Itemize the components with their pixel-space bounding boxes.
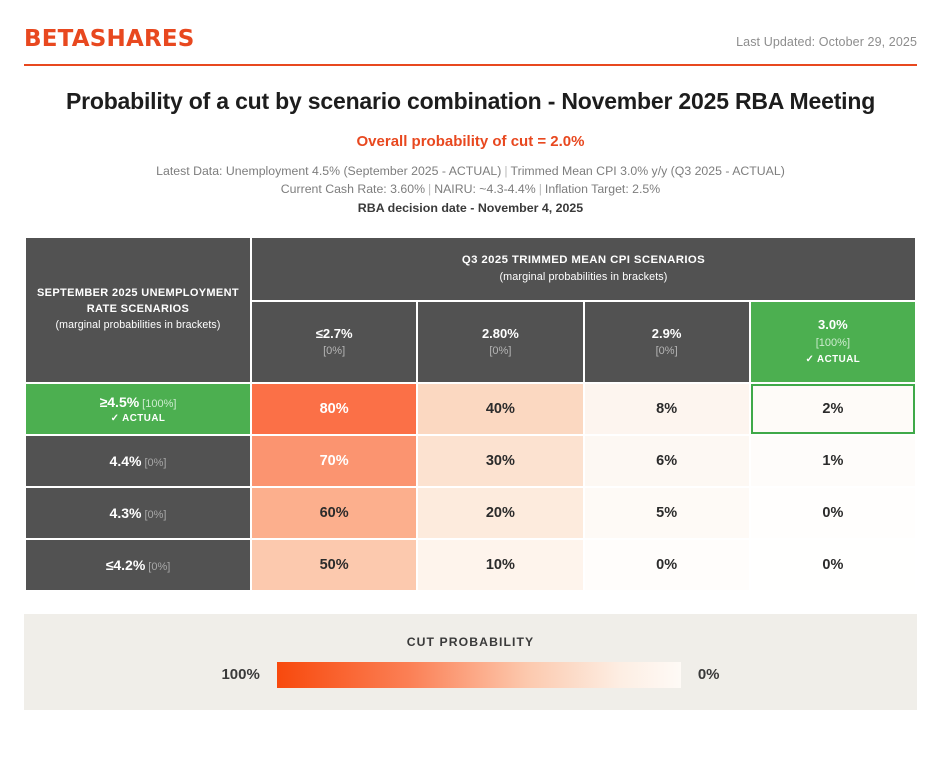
meta-inflation-target: Inflation Target: 2.5% [545, 182, 660, 196]
actual-badge: ✓ ACTUAL [751, 353, 915, 368]
cpi-column-header-2[interactable]: 2.80%[0%] [418, 302, 582, 382]
cpi-column-label: ≤2.7% [316, 326, 353, 341]
betashares-logo: BETASHARES [24, 26, 195, 52]
meta-separator: | [536, 182, 545, 196]
unemployment-row-label: ≥4.5% [100, 394, 140, 410]
unemployment-row-header-4[interactable]: ≤4.2%[0%] [26, 540, 250, 590]
probability-cell-r2-c2[interactable]: 30% [418, 436, 582, 486]
matrix-group-header-row: SEPTEMBER 2025 UNEMPLOYMENT RATE SCENARI… [26, 238, 915, 300]
unemployment-row-marginal: [0%] [144, 457, 166, 469]
cpi-column-label: 3.0% [818, 317, 848, 332]
probability-cell-r2-c4[interactable]: 1% [751, 436, 915, 486]
unemployment-row-header-1[interactable]: ≥4.5%[100%]✓ ACTUAL [26, 384, 250, 434]
overall-probability-label: Overall probability of cut = 2.0% [24, 133, 917, 150]
probability-cell-r3-c4[interactable]: 0% [751, 488, 915, 538]
probability-cell-r4-c3[interactable]: 0% [585, 540, 749, 590]
unemployment-row-label: 4.4% [110, 453, 142, 469]
corner-header-main: SEPTEMBER 2025 UNEMPLOYMENT RATE SCENARI… [26, 286, 250, 318]
color-legend: CUT PROBABILITY 100% 0% [24, 614, 917, 710]
cpi-column-header-1[interactable]: ≤2.7%[0%] [252, 302, 416, 382]
report-page: BETASHARES Last Updated: October 29, 202… [0, 0, 941, 767]
page-header: BETASHARES Last Updated: October 29, 202… [24, 0, 917, 64]
legend-gradient-bar [277, 662, 681, 688]
page-title: Probability of a cut by scenario combina… [24, 88, 917, 115]
meta-info: Latest Data: Unemployment 4.5% (Septembe… [24, 163, 917, 218]
corner-header-cell: SEPTEMBER 2025 UNEMPLOYMENT RATE SCENARI… [26, 238, 250, 382]
last-updated-label: Last Updated: October 29, 2025 [736, 35, 917, 49]
unemployment-row-marginal: [0%] [144, 509, 166, 521]
probability-cell-r1-c1[interactable]: 80% [252, 384, 416, 434]
legend-scale: 100% 0% [24, 662, 917, 688]
unemployment-row-label: ≤4.2% [106, 557, 146, 573]
unemployment-row-header-2[interactable]: 4.4%[0%] [26, 436, 250, 486]
probability-cell-r3-c1[interactable]: 60% [252, 488, 416, 538]
corner-header-sub: (marginal probabilities in brackets) [26, 318, 250, 333]
cpi-column-label: 2.80% [482, 326, 519, 341]
probability-cell-r1-c2[interactable]: 40% [418, 384, 582, 434]
probability-cell-r1-c3[interactable]: 8% [585, 384, 749, 434]
header-divider [24, 64, 917, 66]
unemployment-row-marginal: [0%] [148, 561, 170, 573]
legend-min-label: 0% [698, 666, 720, 683]
matrix-row: ≥4.5%[100%]✓ ACTUAL80%40%8%2% [26, 384, 915, 434]
meta-separator: | [501, 164, 510, 178]
probability-cell-r2-c3[interactable]: 6% [585, 436, 749, 486]
probability-cell-r4-c1[interactable]: 50% [252, 540, 416, 590]
cpi-column-marginal: [0%] [418, 343, 582, 360]
cpi-column-marginal: [0%] [585, 343, 749, 360]
cpi-column-header-4[interactable]: 3.0%[100%]✓ ACTUAL [751, 302, 915, 382]
matrix-row: ≤4.2%[0%]50%10%0%0% [26, 540, 915, 590]
meta-separator: | [425, 182, 434, 196]
probability-cell-r3-c3[interactable]: 5% [585, 488, 749, 538]
unemployment-row-marginal: [100%] [142, 398, 176, 410]
scenario-probability-matrix: SEPTEMBER 2025 UNEMPLOYMENT RATE SCENARI… [24, 236, 917, 592]
matrix-row: 4.4%[0%]70%30%6%1% [26, 436, 915, 486]
probability-cell-r1-c4[interactable]: 2% [751, 384, 915, 434]
matrix-row: 4.3%[0%]60%20%5%0% [26, 488, 915, 538]
unemployment-row-label: 4.3% [110, 505, 142, 521]
meta-nairu: NAIRU: ~4.3-4.4% [434, 182, 536, 196]
cpi-group-header-sub: (marginal probabilities in brackets) [252, 269, 915, 285]
cpi-column-marginal: [100%] [751, 335, 915, 352]
probability-cell-r2-c1[interactable]: 70% [252, 436, 416, 486]
meta-latest-cpi: Trimmed Mean CPI 3.0% y/y (Q3 2025 - ACT… [511, 164, 785, 178]
cpi-column-marginal: [0%] [252, 343, 416, 360]
unemployment-row-header-3[interactable]: 4.3%[0%] [26, 488, 250, 538]
legend-max-label: 100% [221, 666, 259, 683]
actual-badge: ✓ ACTUAL [26, 413, 250, 424]
probability-cell-r3-c2[interactable]: 20% [418, 488, 582, 538]
meta-decision-date: RBA decision date - November 4, 2025 [24, 200, 917, 218]
meta-latest-unemployment: Latest Data: Unemployment 4.5% (Septembe… [156, 164, 501, 178]
probability-cell-r4-c4[interactable]: 0% [751, 540, 915, 590]
cpi-column-header-3[interactable]: 2.9%[0%] [585, 302, 749, 382]
cpi-column-label: 2.9% [652, 326, 682, 341]
probability-cell-r4-c2[interactable]: 10% [418, 540, 582, 590]
cpi-group-header: Q3 2025 TRIMMED MEAN CPI SCENARIOS (marg… [252, 238, 915, 300]
cpi-group-header-main: Q3 2025 TRIMMED MEAN CPI SCENARIOS [462, 254, 705, 266]
legend-title: CUT PROBABILITY [24, 635, 917, 649]
meta-cash-rate: Current Cash Rate: 3.60% [281, 182, 425, 196]
